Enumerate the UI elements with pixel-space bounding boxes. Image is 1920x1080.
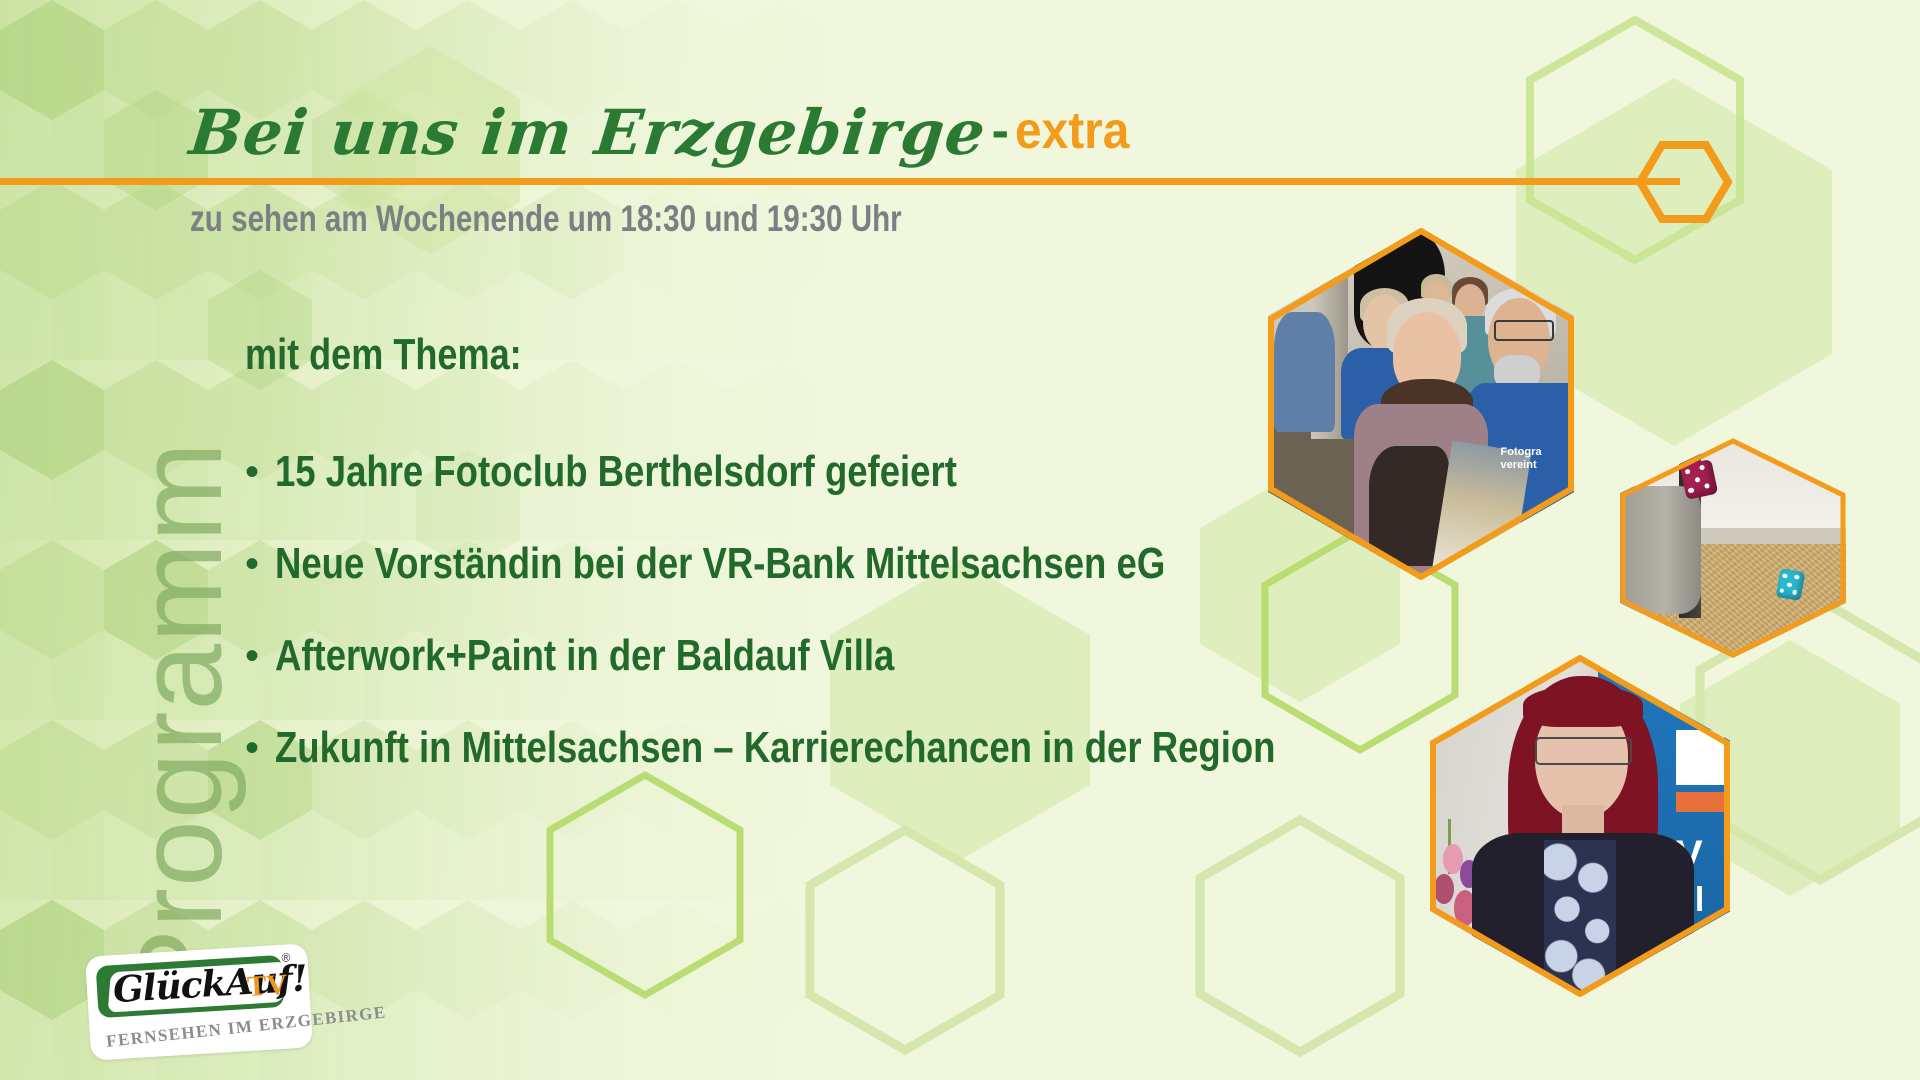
glueckauf-tv-logo: GlückAuf! TV ® FERNSEHEN IM ERZGEBIRGE <box>85 943 313 1060</box>
list-item-label: Zukunft in Mittelsachsen – Karrierechanc… <box>275 721 1275 775</box>
photo-hexagon-fotoclub: Fotogravereint <box>1268 228 1574 580</box>
list-item-label: 15 Jahre Fotoclub Berthelsdorf gefeiert <box>275 445 957 499</box>
slide-title: Bei uns im Erzgebirge-extra <box>190 96 1139 169</box>
divider-end-hexagon-icon <box>1636 141 1732 223</box>
list-item: •Afterwork+Paint in der Baldauf Villa <box>245 629 1480 721</box>
photo-hexagon-border <box>1268 228 1574 580</box>
photo-hexagon-border <box>1430 655 1730 997</box>
list-item-label: Afterwork+Paint in der Baldauf Villa <box>275 629 894 683</box>
registered-trademark-icon: ® <box>281 950 291 965</box>
title-main-text: Bei uns im Erzgebirge <box>186 96 989 169</box>
program-slide: Bei uns im Erzgebirge-extra zu sehen am … <box>0 0 1920 1080</box>
list-item-label: Neue Vorständin bei der VR-Bank Mittelsa… <box>275 537 1165 591</box>
sidebar-vertical-label: Programm <box>111 249 249 1009</box>
title-dash: - <box>986 101 1015 161</box>
topic-intro-label: mit dem Thema: <box>245 330 522 380</box>
photo-hexagon-portrait: V el <box>1430 655 1730 997</box>
photo-hexagon-dice <box>1620 438 1846 658</box>
list-item: •Zukunft in Mittelsachsen – Karrierechan… <box>245 721 1480 813</box>
broadcast-time-subtitle: zu sehen am Wochenende um 18:30 und 19:3… <box>190 198 902 240</box>
photo-hexagon-border <box>1620 438 1846 658</box>
bullet-marker-icon: • <box>245 721 275 775</box>
orange-divider-line <box>0 178 1680 185</box>
bullet-marker-icon: • <box>245 537 275 591</box>
bullet-marker-icon: • <box>245 445 275 499</box>
logo-tv-text: TV <box>246 969 288 1004</box>
title-extra-text: extra <box>1015 101 1129 161</box>
bullet-marker-icon: • <box>245 629 275 683</box>
